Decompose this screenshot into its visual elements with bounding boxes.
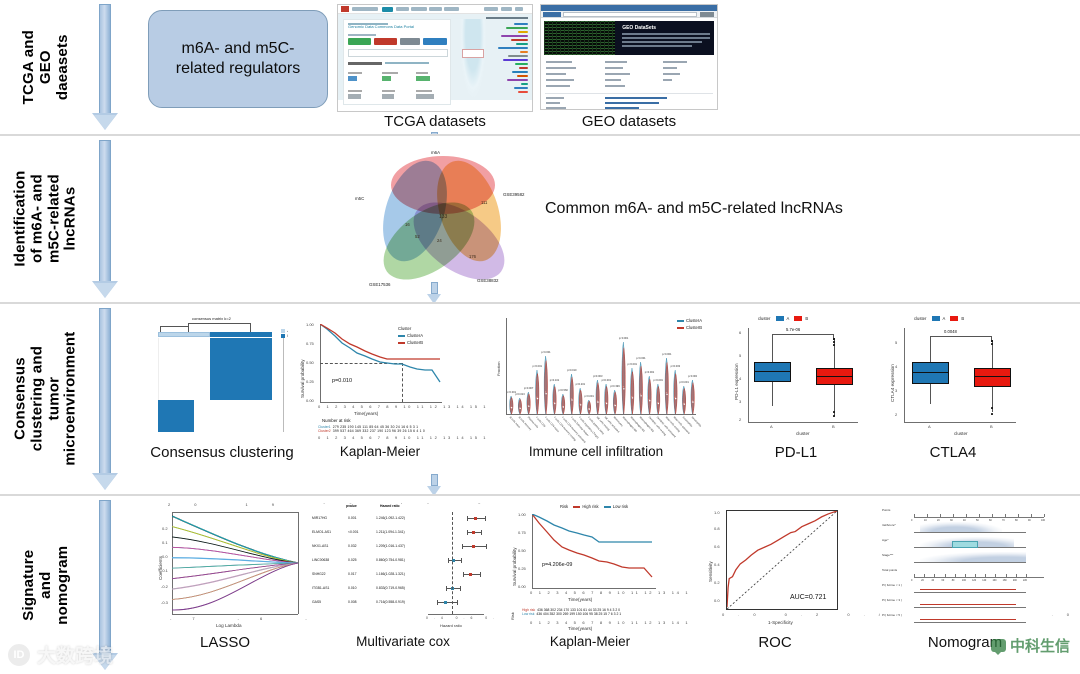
venn-label-m6a: m6A — [431, 150, 440, 155]
stage-label-signature: Signature and nomogram — [0, 496, 92, 674]
forest-ci-cap — [457, 600, 458, 605]
nomogram-tick — [940, 514, 941, 517]
nomogram-tick-label: 40 — [931, 579, 934, 582]
geo-banner: GEO DataSets — [544, 21, 714, 55]
forest-hazard-ratio: 0.833(0.719-0.965) — [376, 586, 405, 590]
nomogram-tick-label: 160 — [992, 579, 996, 582]
km-cluster-plot[interactable]: Survival probability 1.00 0.75 0.50 0.25… — [288, 312, 464, 442]
forest-hazard-ratio: 1.246(1.092-1.422) — [376, 516, 405, 520]
pdl1-xlabel: cluster — [796, 431, 810, 436]
gdc-human-body-icon — [460, 19, 486, 97]
nomogram-row-label: Points — [882, 508, 890, 512]
nomogram-tick — [965, 574, 966, 577]
nomogram-tick — [992, 514, 993, 517]
km-risk-curves — [532, 514, 656, 589]
svg-text:p=0.101: p=0.101 — [550, 378, 560, 382]
nomogram-row-label: Stage*** — [882, 553, 893, 557]
lasso-paths — [172, 512, 298, 614]
connector-arrow-2 — [427, 282, 441, 304]
venn-label-gse17536: GSE17536 — [369, 282, 390, 287]
forest-point-estimate — [474, 517, 477, 520]
forest-gene-label: GAS5 — [312, 600, 321, 604]
nomogram-tick-label: 0 — [911, 579, 912, 582]
nomogram-row-label: Pr( futime < 1 ) — [882, 583, 902, 587]
stage-arrow-1 — [92, 4, 118, 130]
nomogram-tick-label: 0 — [911, 519, 912, 522]
forest-gene-label: SNHG22 — [312, 572, 326, 576]
nomogram-tick — [1016, 574, 1017, 577]
svg-text:p=0.001: p=0.001 — [602, 378, 612, 382]
forest-gene-label: MIR17HG — [312, 516, 327, 520]
roc-plot[interactable]: Sensitivity 0.0 0.2 0.4 0.6 0.8 1.0 AUC=… — [690, 502, 860, 632]
stage-label-clustering: Consensus clustering and tumor microenvi… — [0, 304, 92, 494]
svg-text:p=0.010: p=0.010 — [567, 368, 577, 372]
immune-infiltration-caption: Immune cell infiltration — [486, 444, 706, 459]
nomogram-tick — [927, 514, 928, 517]
forest-pvalue: 0.032 — [348, 544, 357, 548]
nomogram-tick-label: 90 — [1028, 519, 1031, 522]
stage-row-lncrna-identification: Identification of m6A- and m5C-related l… — [0, 136, 1080, 304]
km-cluster-curves — [320, 324, 444, 403]
stage-row-signature-nomogram: Signature and nomogram 20 19 19 16 5 Coe… — [0, 496, 1080, 674]
stage-arrow-3 — [92, 308, 118, 490]
geo-search-input[interactable] — [563, 12, 697, 17]
roc-caption: ROC — [690, 634, 860, 651]
gdc-site-title: Genomic Data Commons Data Portal — [348, 24, 414, 29]
forest-row-group: MIR17HG0.0011.246(1.092-1.422)ELMO1-AS1<… — [310, 504, 496, 626]
stage-label-text: Identification of m6A- and m5C-related l… — [12, 171, 79, 267]
forest-point-estimate — [472, 545, 475, 548]
nomogram-tick — [1005, 514, 1006, 517]
svg-text:p=0.001: p=0.001 — [679, 380, 689, 384]
nomogram-row-label: riskScore* — [882, 523, 896, 527]
forest-pvalue: <0.001 — [348, 530, 358, 534]
ctla4-ylabel: CTLA4 expression — [890, 364, 895, 402]
venn-count-2: 176 — [469, 254, 476, 259]
forest-plot[interactable]: pvalue Hazard ratio MIR17HG0.0011.246(1.… — [310, 504, 496, 632]
nomogram-tick — [955, 574, 956, 577]
nomogram-density — [920, 552, 1026, 562]
km-cluster-caption: Kaplan-Meier — [300, 444, 460, 459]
km-cluster-legend-a: ClusterA — [398, 333, 423, 338]
regulators-box: m6A- and m5C-related regulators — [148, 10, 328, 108]
immune-infiltration-plot[interactable]: Fraction p<0.001p=0.013p=0.007p<0.001p<0… — [486, 314, 706, 440]
forest-ci-cap — [481, 530, 482, 535]
nomogram-axis — [914, 607, 1026, 608]
km-risk-legend: Risk High risk Low risk — [560, 504, 628, 509]
regulators-box-label: m6A- and m5C-related regulators — [159, 39, 317, 79]
forest-ci-cap — [462, 544, 463, 549]
nomogram-tick-label: 200 — [1013, 579, 1017, 582]
nomogram-axis — [914, 532, 1026, 533]
svg-text:p<0.001: p<0.001 — [688, 374, 697, 378]
nomogram-plot[interactable]: Points0102030405060708090100riskScore*Ag… — [880, 502, 1050, 632]
nomogram-tick — [1018, 514, 1019, 517]
svg-text:p<0.001: p<0.001 — [662, 352, 672, 356]
nomogram-probability-axis — [920, 619, 1016, 620]
forest-ci-cap — [485, 516, 486, 521]
roc-auc-label: AUC=0.721 — [790, 594, 826, 601]
venn-count-5: 24 — [437, 238, 442, 243]
forest-hazard-ratio: 0.860(0.754-0.981) — [376, 558, 405, 562]
nomogram-tick — [945, 574, 946, 577]
roc-ylabel: Sensitivity — [708, 561, 713, 582]
km-cluster-xlabel: Time(years) — [354, 411, 378, 416]
nomogram-row-label: Pr( futime < 5 ) — [882, 613, 902, 617]
ctla4-legend: cluster A B — [914, 316, 964, 321]
consensus-clustering-caption: Consensus clustering — [122, 444, 322, 461]
forest-ci-cap — [463, 572, 464, 577]
stage-row-datasets: TCGA and GEO daeasets m6A- and m5C-relat… — [0, 0, 1080, 136]
nomogram-tick-label: 100 — [1041, 519, 1045, 522]
venn-label-m5c: m5C — [355, 196, 364, 201]
svg-text:p<0.001: p<0.001 — [584, 394, 594, 398]
nomogram-density — [920, 522, 1002, 532]
roc-xlabel: 1-Specificity — [768, 620, 793, 625]
ctla4-box-b — [974, 368, 1011, 387]
nomogram-tick-label: 120 — [972, 579, 976, 582]
stage-label-text: Signature and nomogram — [21, 539, 71, 631]
workflow-figure: TCGA and GEO daeasets m6A- and m5C-relat… — [0, 0, 1080, 674]
forest-gene-label: LINC00638 — [312, 558, 329, 562]
stage-label-text: Consensus clustering and tumor microenvi… — [12, 332, 79, 466]
nomogram-axis — [914, 517, 1044, 518]
km-risk-pvalue: p=4.206e-09 — [542, 562, 572, 568]
nomogram-axis — [914, 592, 1026, 593]
forest-pvalue: 0.017 — [348, 572, 357, 576]
nomogram-tick-label: 220 — [1023, 579, 1027, 582]
nomogram-probability-axis — [920, 604, 1016, 605]
svg-text:p<0.001: p<0.001 — [541, 350, 551, 354]
nomogram-tick-label: 80 — [952, 579, 955, 582]
svg-text:p=0.399: p=0.399 — [610, 384, 620, 388]
svg-text:p<0.001: p<0.001 — [533, 364, 543, 368]
nomogram-axis — [914, 622, 1026, 623]
nomogram-tick — [975, 574, 976, 577]
km-risk-xlabel: Time(years) — [568, 597, 592, 602]
nomogram-tick — [1044, 514, 1045, 517]
gdc-logo-icon — [341, 6, 349, 12]
forest-gene-label: ITGB1-AS1 — [312, 586, 329, 590]
nomogram-tick — [1031, 514, 1032, 517]
ctla4-xlabel: cluster — [954, 431, 968, 436]
nomogram-tick — [995, 574, 996, 577]
nomogram-tick-label: 180 — [1003, 579, 1007, 582]
forest-point-estimate — [472, 531, 475, 534]
forest-ci-cap — [461, 558, 462, 563]
km-cluster-risk-table: Cluster1 279 235 190 145 111 85 64 45 36… — [318, 425, 425, 434]
pdl1-ylabel: PD-L1 expression — [734, 363, 739, 400]
km-risk-plot[interactable]: Risk High risk Low risk Survival probabi… — [500, 502, 680, 634]
immune-ylabel: Fraction — [496, 362, 501, 376]
pdl1-pvalue: 5.7e-06 — [786, 327, 800, 332]
forest-hazard-ratio: 1.209(1.016-1.437) — [376, 544, 405, 548]
forest-pvalue: 0.010 — [348, 586, 357, 590]
venn-diagram: m6A m5C GSE39582 GSE38832 GSE17536 133 1… — [355, 150, 535, 294]
venn-center-count: 133 — [439, 214, 447, 220]
consensus-matrix-plot[interactable]: consensus matrix k=2 A B — [152, 314, 292, 436]
common-lncrna-text: Common m6A- and m5C-related lncRNAs — [545, 200, 843, 218]
pdl1-caption: PD-L1 — [722, 444, 870, 461]
forest-hazard-ratio: 1.211(1.094-1.341) — [376, 530, 405, 534]
nomogram-tick — [953, 514, 954, 517]
forest-ci-cap — [467, 516, 468, 521]
nomogram-tick-label: 80 — [1015, 519, 1018, 522]
nomogram-row-label: Age* — [882, 538, 889, 542]
pdl1-legend: cluster A B — [758, 316, 808, 321]
venn-count-1: 111 — [481, 200, 487, 205]
nomogram-axis — [914, 562, 1026, 563]
forest-pvalue: 0.025 — [348, 558, 357, 562]
km-cluster-risk-title: Number at risk — [322, 418, 351, 423]
forest-ci-cap — [437, 600, 438, 605]
nomogram-tick — [1006, 574, 1007, 577]
venn-count-3: 52 — [415, 234, 420, 239]
stage-label-datasets: TCGA and GEO daeasets — [0, 0, 92, 134]
forest-hazard-ratio: 1.166(1.028-1.321) — [376, 572, 405, 576]
svg-text:p=0.007: p=0.007 — [524, 386, 534, 390]
pdl1-boxplot[interactable]: cluster A B PD-L1 expression 6 5 4 3 2 5… — [722, 314, 870, 440]
nomogram-tick — [985, 574, 986, 577]
svg-text:p<0.001: p<0.001 — [619, 336, 629, 340]
nomogram-rows: Points0102030405060708090100riskScore*Ag… — [880, 502, 1050, 632]
immune-category-labels: B cells naiveB cells memoryPlasma cellsT… — [507, 415, 697, 441]
svg-text:p<0.001: p<0.001 — [636, 356, 646, 360]
nomogram-tick — [979, 514, 980, 517]
stage-arrow-2 — [92, 140, 118, 298]
stage-arrow-4 — [92, 500, 118, 670]
forest-ci-cap — [480, 572, 481, 577]
nomogram-tick — [914, 574, 915, 577]
nomogram-tick-label: 140 — [982, 579, 986, 582]
venn-label-gse38832: GSE38832 — [477, 278, 498, 283]
nomogram-tick — [914, 514, 915, 517]
forest-ci-cap — [467, 530, 468, 535]
nomogram-tick — [924, 574, 925, 577]
lasso-plot[interactable]: 20 19 19 16 5 Coefficients 0.2 0.1 0.0 -… — [140, 502, 310, 630]
stage-row-consensus-clustering: Consensus clustering and tumor microenvi… — [0, 304, 1080, 496]
svg-text:p<0.001: p<0.001 — [628, 362, 638, 366]
immune-legend-a: ClusterA — [677, 318, 702, 323]
consensus-matrix-title: consensus matrix k=2 — [192, 316, 231, 321]
forest-gene-label: NKX1-AS1 — [312, 544, 328, 548]
nomogram-tick — [934, 574, 935, 577]
svg-text:p=0.003: p=0.003 — [671, 364, 681, 368]
forest-pvalue: 0.008 — [348, 600, 357, 604]
km-risk-caption: Kaplan-Meier — [500, 634, 680, 649]
forest-ci-cap — [460, 586, 461, 591]
svg-text:p=0.001: p=0.001 — [645, 370, 655, 374]
forest-hazard-ratio: 0.716(0.558-0.919) — [376, 600, 405, 604]
geo-banner-title: GEO DataSets — [622, 25, 656, 31]
km-cluster-ylabel: Survival probability — [300, 359, 305, 398]
nomogram-tick-label: 20 — [921, 579, 924, 582]
tcga-caption: TCGA datasets — [337, 113, 533, 130]
nomogram-row-label: Pr( futime < 3 ) — [882, 598, 902, 602]
ctla4-caption: CTLA4 — [878, 444, 1028, 461]
tcga-gdc-screenshot[interactable]: Genomic Data Commons Data Portal — [337, 4, 533, 112]
nomogram-tick — [1026, 574, 1027, 577]
km-cluster-legend-title: Cluster — [398, 326, 411, 331]
ctla4-pvalue: 0.0048 — [944, 329, 957, 334]
multivariate-cox-caption: Multivariate cox — [310, 634, 496, 649]
forest-point-estimate — [444, 601, 447, 604]
svg-text:p=0.013: p=0.013 — [515, 392, 525, 396]
gdc-search-input[interactable] — [348, 49, 448, 57]
nomogram-row-label: Total points — [882, 568, 897, 572]
forest-pvalue: 0.001 — [348, 516, 357, 520]
ctla4-boxplot[interactable]: cluster A B CTLA4 expression 5 4 3 2 0.0… — [878, 314, 1028, 440]
km-risk-ylabel: Survival probability — [512, 547, 517, 586]
forest-xlabel: Hazard ratio — [440, 623, 462, 628]
nomogram-tick-label: 70 — [1002, 519, 1005, 522]
km-risk-table: High risk 436 368 302 234 170 133 101 61… — [522, 608, 621, 617]
lasso-caption: LASSO — [140, 634, 310, 651]
connector-arrow-3 — [427, 474, 441, 496]
forest-gene-label: ELMO1-AS1 — [312, 530, 331, 534]
svg-text:p=0.560: p=0.560 — [558, 388, 568, 392]
km-cluster-pvalue: p=0.010 — [332, 378, 352, 384]
km-cluster-legend-b: ClusterB — [398, 340, 423, 345]
forest-ci-cap — [448, 558, 449, 563]
km-risk-risk-title: Risk — [510, 612, 515, 620]
svg-text:p<0.001: p<0.001 — [653, 378, 663, 382]
lasso-xlabel: Log Lambda — [216, 623, 242, 628]
venn-count-4: 16 — [405, 222, 410, 227]
forest-point-estimate — [469, 573, 472, 576]
geo-screenshot[interactable]: GEO DataSets — [540, 4, 718, 110]
stage-label-text: TCGA and GEO daeasets — [21, 21, 71, 113]
geo-caption: GEO datasets — [540, 113, 718, 130]
svg-text:p=0.003: p=0.003 — [593, 374, 603, 378]
immune-legend-b: ClusterB — [677, 325, 702, 330]
nomogram-tick-label: 100 — [962, 579, 966, 582]
nomogram-tick — [966, 514, 967, 517]
forest-ci-cap — [486, 544, 487, 549]
venn-label-gse39582: GSE39582 — [503, 192, 524, 197]
nomogram-stage-box — [952, 541, 978, 548]
nomogram-caption: Nomogram — [880, 634, 1050, 651]
stage-label-identification: Identification of m6A- and m5C-related l… — [0, 136, 92, 302]
immune-violins: p<0.001p=0.013p=0.007p<0.001p<0.001p=0.1… — [507, 318, 697, 414]
nomogram-probability-axis — [920, 589, 1016, 590]
nomogram-tick-label: 60 — [942, 579, 945, 582]
svg-text:p=0.201: p=0.201 — [576, 382, 586, 386]
forest-ci-cap — [446, 586, 447, 591]
